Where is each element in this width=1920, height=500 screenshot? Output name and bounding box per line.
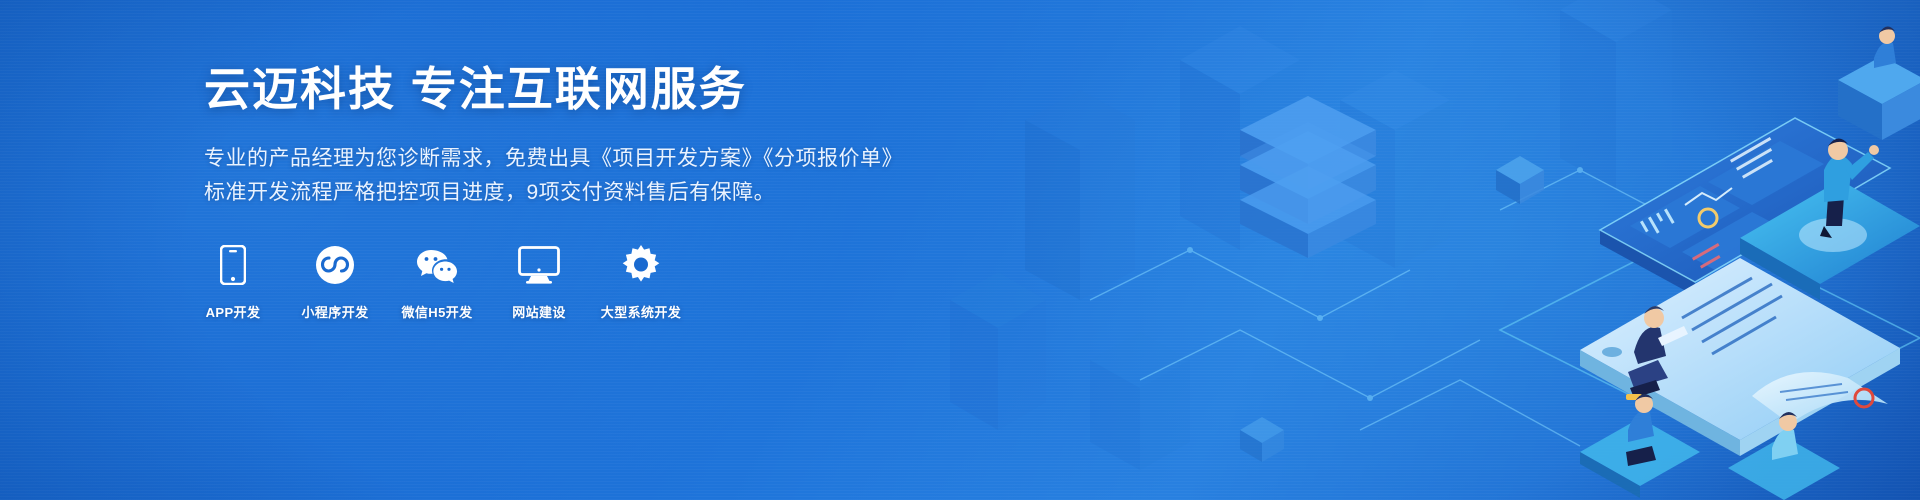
mobile-phone-icon bbox=[220, 244, 246, 286]
gear-icon bbox=[621, 244, 661, 286]
banner-subtitle: 专业的产品经理为您诊断需求，免费出具《项目开发方案》《分项报价单》 标准开发流程… bbox=[204, 142, 904, 210]
person-on-cube bbox=[1838, 26, 1920, 140]
service-label: 微信H5开发 bbox=[401, 302, 472, 321]
page-title: 云迈科技 专注互联网服务 bbox=[204, 62, 904, 116]
service-item-system[interactable]: 大型系统开发 bbox=[612, 244, 670, 321]
service-icon-row: APP开发 小程序开发 bbox=[204, 244, 904, 321]
monitor-icon bbox=[518, 244, 560, 286]
wechat-icon bbox=[415, 244, 459, 286]
service-label: 大型系统开发 bbox=[601, 302, 681, 321]
illustration-svg bbox=[940, 0, 1920, 500]
server-stack bbox=[1240, 96, 1376, 258]
banner-content: 云迈科技 专注互联网服务 专业的产品经理为您诊断需求，免费出具《项目开发方案》《… bbox=[204, 62, 904, 321]
service-label: APP开发 bbox=[206, 302, 261, 321]
hero-illustration bbox=[940, 0, 1920, 500]
service-label: 网站建设 bbox=[512, 302, 566, 321]
mini-program-icon bbox=[315, 244, 355, 286]
subtitle-line-2: 标准开发流程严格把控项目进度，9项交付资料售后有保障。 bbox=[204, 176, 904, 210]
subtitle-line-1: 专业的产品经理为您诊断需求，免费出具《项目开发方案》《分项报价单》 bbox=[204, 147, 903, 170]
service-item-website[interactable]: 网站建设 bbox=[510, 244, 568, 321]
service-item-app[interactable]: APP开发 bbox=[204, 244, 262, 321]
service-item-miniprogram[interactable]: 小程序开发 bbox=[306, 244, 364, 321]
marketing-banner: 云迈科技 专注互联网服务 专业的产品经理为您诊断需求，免费出具《项目开发方案》《… bbox=[0, 0, 1920, 500]
service-label: 小程序开发 bbox=[302, 302, 369, 321]
service-item-wechat[interactable]: 微信H5开发 bbox=[408, 244, 466, 321]
